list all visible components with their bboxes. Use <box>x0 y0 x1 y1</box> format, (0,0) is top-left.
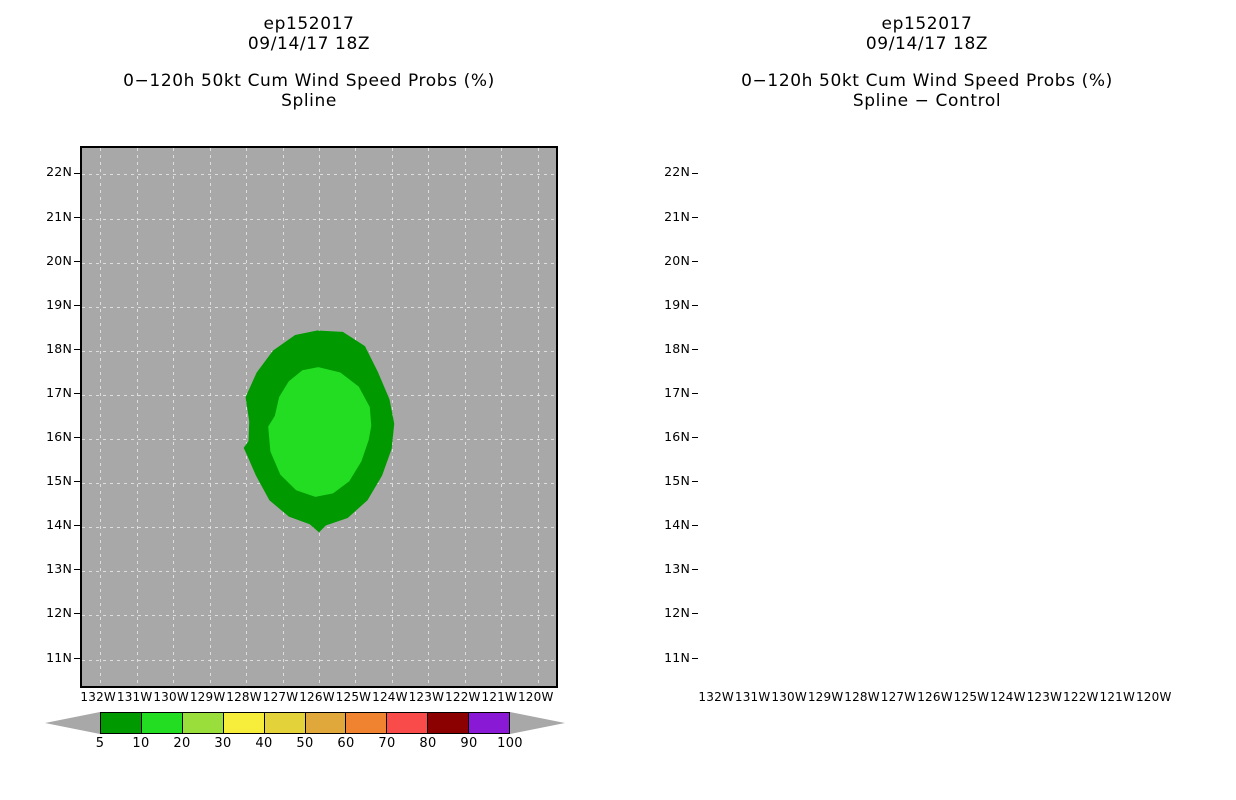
plot-subtitle-left: Spline <box>0 91 618 111</box>
y-tick-mark <box>692 481 698 482</box>
colorbar-swatch <box>183 713 224 733</box>
y-tick-mark <box>692 173 698 174</box>
colorbar-right-arrow-probability <box>510 712 565 734</box>
y-tick-mark <box>74 481 80 482</box>
y-tick-label: 22N <box>32 164 72 179</box>
colorbar-tick-label: 90 <box>449 736 489 751</box>
storm-id-right: ep152017 <box>618 0 1236 34</box>
colorbar-body-probability <box>100 712 510 734</box>
y-tick-mark <box>692 569 698 570</box>
y-tick-mark <box>74 613 80 614</box>
y-tick-label: 21N <box>650 209 690 224</box>
y-tick-label: 15N <box>32 473 72 488</box>
y-tick-label: 20N <box>32 253 72 268</box>
y-tick-mark <box>74 569 80 570</box>
y-tick-label: 13N <box>32 561 72 576</box>
y-tick-mark <box>692 393 698 394</box>
y-tick-label: 14N <box>650 517 690 532</box>
y-tick-label: 16N <box>32 429 72 444</box>
colorbar-tick-label: 10 <box>121 736 161 751</box>
plot-title-right: 0−120h 50kt Cum Wind Speed Probs (%) <box>618 54 1236 91</box>
y-tick-label: 11N <box>650 650 690 665</box>
y-tick-mark <box>692 349 698 350</box>
y-tick-label: 19N <box>32 297 72 312</box>
colorbar-tick-label: 50 <box>285 736 325 751</box>
y-tick-mark <box>74 525 80 526</box>
panel-left-titles: ep152017 09/14/17 18Z 0−120h 50kt Cum Wi… <box>0 0 618 111</box>
y-tick-mark <box>692 305 698 306</box>
colorbar-tick-label: 60 <box>326 736 366 751</box>
colorbar-tick-label: 80 <box>408 736 448 751</box>
y-tick-mark <box>692 261 698 262</box>
colorbar-swatch <box>306 713 347 733</box>
colorbar-tick-label: 70 <box>367 736 407 751</box>
panel-spline-minus-control: ep152017 09/14/17 18Z 0−120h 50kt Cum Wi… <box>618 0 1236 800</box>
y-tick-mark <box>692 525 698 526</box>
y-tick-label: 14N <box>32 517 72 532</box>
colorbar-swatch <box>224 713 265 733</box>
colorbar-swatch <box>265 713 306 733</box>
y-tick-mark <box>74 349 80 350</box>
y-tick-label: 18N <box>32 341 72 356</box>
datetime-right: 09/14/17 18Z <box>618 34 1236 54</box>
y-tick-mark <box>74 261 80 262</box>
colorbar-tick-label: 20 <box>162 736 202 751</box>
y-tick-mark <box>74 658 80 659</box>
contour-overlay-spline <box>82 148 556 686</box>
y-tick-label: 16N <box>650 429 690 444</box>
plot-title-left: 0−120h 50kt Cum Wind Speed Probs (%) <box>0 54 618 91</box>
datetime-left: 09/14/17 18Z <box>0 34 618 54</box>
plot-subtitle-right: Spline − Control <box>618 91 1236 111</box>
y-tick-mark <box>692 437 698 438</box>
y-tick-mark <box>692 613 698 614</box>
colorbar-tick-label: 5 <box>80 736 120 751</box>
colorbar-swatch <box>142 713 183 733</box>
y-tick-label: 17N <box>650 385 690 400</box>
colorbar-swatch <box>101 713 142 733</box>
colorbar-tick-label: 30 <box>203 736 243 751</box>
map-plot-spline[interactable] <box>80 146 558 688</box>
y-tick-label: 21N <box>32 209 72 224</box>
colorbar-swatch <box>346 713 387 733</box>
y-tick-label: 12N <box>32 605 72 620</box>
colorbar-swatch <box>387 713 428 733</box>
y-tick-label: 13N <box>650 561 690 576</box>
y-tick-mark <box>74 173 80 174</box>
y-tick-label: 11N <box>32 650 72 665</box>
y-tick-mark <box>74 305 80 306</box>
y-tick-label: 20N <box>650 253 690 268</box>
colorbar-tick-label: 100 <box>490 736 530 751</box>
y-tick-label: 22N <box>650 164 690 179</box>
colorbar-swatch <box>469 713 509 733</box>
colorbar-left-arrow-probability <box>45 712 100 734</box>
panel-right-titles: ep152017 09/14/17 18Z 0−120h 50kt Cum Wi… <box>618 0 1236 111</box>
storm-id-left: ep152017 <box>0 0 618 34</box>
y-tick-label: 17N <box>32 385 72 400</box>
panel-spline: ep152017 09/14/17 18Z 0−120h 50kt Cum Wi… <box>0 0 618 800</box>
colorbar-swatch <box>428 713 469 733</box>
y-tick-mark <box>74 393 80 394</box>
x-tick-label: 120W <box>514 690 558 704</box>
x-tick-label: 120W <box>1132 690 1176 704</box>
colorbar-ticks-probability: 5102030405060708090100 <box>45 736 565 756</box>
y-tick-label: 18N <box>650 341 690 356</box>
y-tick-mark <box>74 437 80 438</box>
colorbar-probability[interactable]: 5102030405060708090100 <box>45 712 565 762</box>
y-tick-mark <box>74 217 80 218</box>
colorbar-tick-label: 40 <box>244 736 284 751</box>
y-tick-label: 19N <box>650 297 690 312</box>
y-tick-label: 12N <box>650 605 690 620</box>
y-tick-mark <box>692 217 698 218</box>
y-tick-label: 15N <box>650 473 690 488</box>
y-tick-mark <box>692 658 698 659</box>
